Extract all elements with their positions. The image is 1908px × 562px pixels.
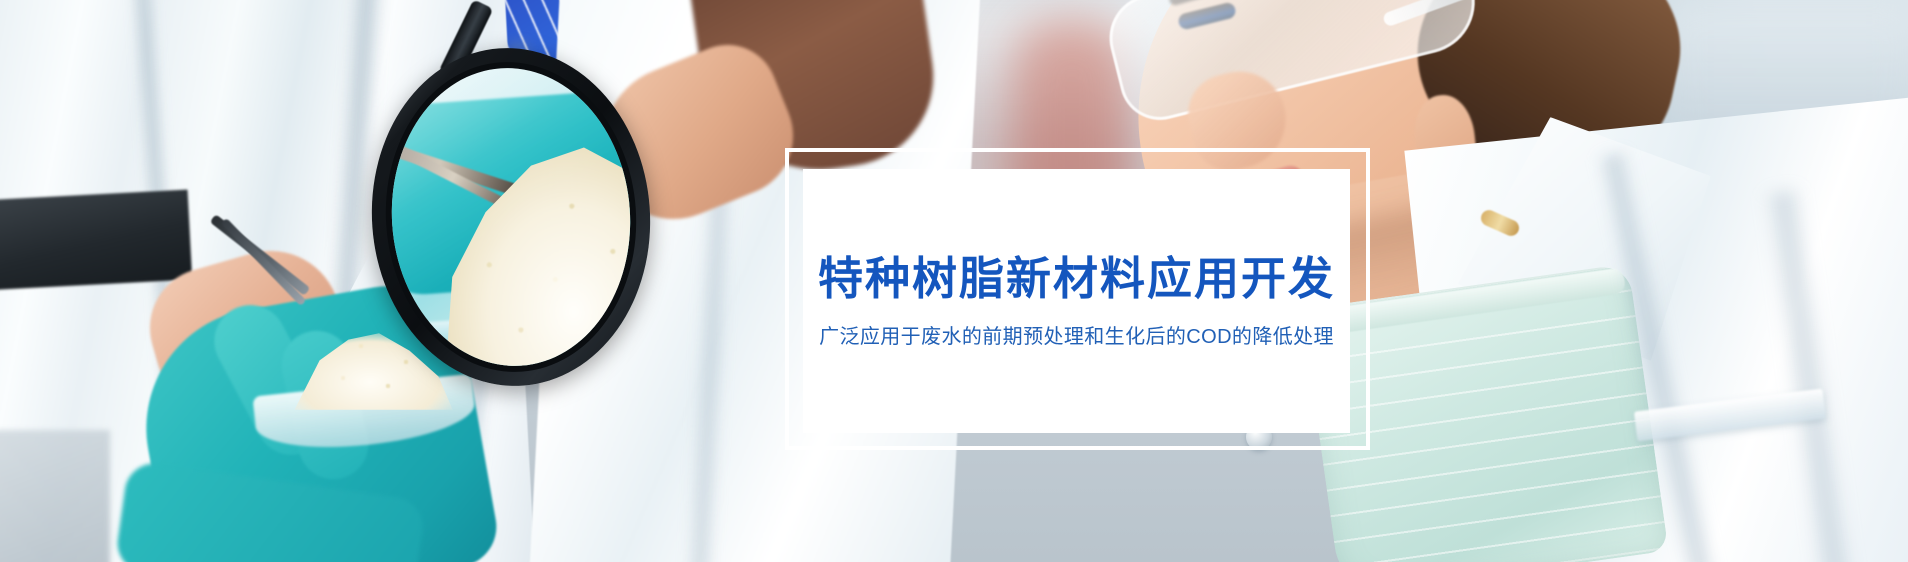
blurred-equipment (0, 430, 110, 562)
dark-instrument (0, 190, 192, 291)
banner-subtitle: 广泛应用于废水的前期预处理和生化后的COD的降低处理 (819, 327, 1334, 347)
headline-card: 特种树脂新材料应用开发 广泛应用于废水的前期预处理和生化后的COD的降低处理 (803, 169, 1350, 433)
promo-banner: 特种树脂新材料应用开发 广泛应用于废水的前期预处理和生化后的COD的降低处理 (0, 0, 1908, 562)
banner-title: 特种树脂新材料应用开发 (818, 256, 1335, 301)
